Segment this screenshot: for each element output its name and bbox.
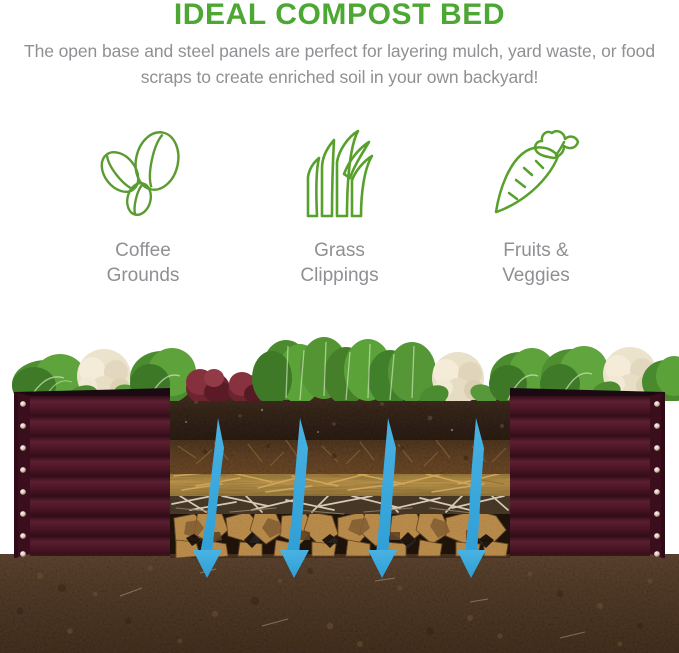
feature-grass-clippings: Grass Clippings xyxy=(245,128,435,288)
plant-romaine-cluster xyxy=(252,337,436,406)
compostable-materials-list: Coffee Grounds Grass Clippings xyxy=(0,128,679,288)
bed-panel-left xyxy=(14,388,170,558)
feature-fruits-veggies: Fruits & Veggies xyxy=(441,128,631,288)
product-infographic: IDEAL COMPOST BED The open base and stee… xyxy=(0,0,679,653)
feature-coffee-grounds: Coffee Grounds xyxy=(48,128,238,288)
feature-label: Grass Clippings xyxy=(300,238,378,288)
header: IDEAL COMPOST BED The open base and stee… xyxy=(0,0,679,90)
coffee-beans-icon xyxy=(89,128,197,220)
carrot-icon xyxy=(484,128,588,220)
garden-bed-cutaway-illustration xyxy=(0,326,679,653)
page-title: IDEAL COMPOST BED xyxy=(0,0,679,30)
panel-ribs-right xyxy=(510,396,650,556)
soil-layer-stack xyxy=(170,388,510,566)
cutaway-svg xyxy=(0,326,679,653)
grass-blades-icon xyxy=(292,128,388,220)
ground-soil-layer xyxy=(0,554,679,653)
panel-ribs-left xyxy=(30,396,170,556)
feature-label: Fruits & Veggies xyxy=(502,238,570,288)
feature-label: Coffee Grounds xyxy=(107,238,180,288)
bed-panel-right xyxy=(510,388,665,558)
page-subtitle: The open base and steel panels are perfe… xyxy=(0,38,679,90)
